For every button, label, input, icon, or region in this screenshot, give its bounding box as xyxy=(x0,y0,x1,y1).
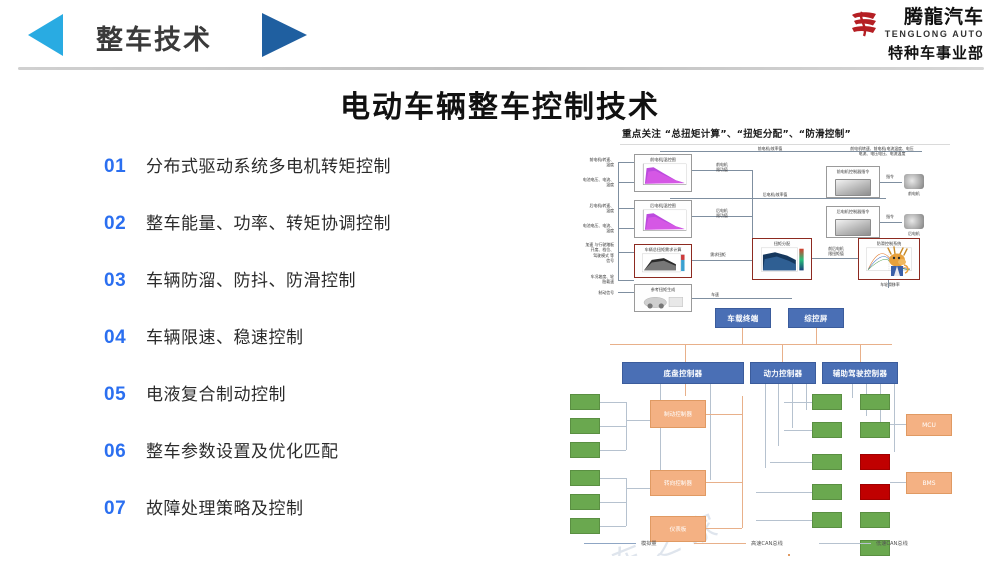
diagram-block-label: 前电机J温控图 xyxy=(650,157,676,162)
signal-link xyxy=(600,402,626,403)
signal-link xyxy=(784,430,812,431)
diagram-block-label: 扭矩分配 xyxy=(774,241,790,246)
diagram-input-label: 后电机J转速、 温度 xyxy=(562,203,614,214)
node-steering-controller[interactable]: 转向控制器 xyxy=(650,470,706,496)
high-speed-can-bus xyxy=(610,344,892,345)
diagram-edge-label: 前后电机 限扭矩值 xyxy=(814,246,858,257)
bus-link xyxy=(742,328,743,344)
list-item-number: 04 xyxy=(104,327,146,349)
diagram-block-label: 前电机控制器指令 xyxy=(837,169,870,174)
controller-hardware-image xyxy=(835,179,871,196)
bus-link xyxy=(685,344,686,362)
sensor-node[interactable] xyxy=(570,494,600,510)
diagram-edge-label: 车轮滑移率 xyxy=(860,282,920,287)
diagram-edge-label: 后电机J效率值 xyxy=(730,192,820,197)
fault-node[interactable] xyxy=(860,484,890,500)
triangle-left-icon xyxy=(28,14,63,56)
diagram-input-label: 电池电压、电流、 温度 xyxy=(562,177,614,188)
torque-distribution-plot xyxy=(756,247,808,275)
legend-swatch-low-speed-can xyxy=(819,543,871,544)
diagram-block-front-motor-map: 前电机J温控图 xyxy=(634,154,692,192)
diagram-block-label: 后电机控制器指令 xyxy=(837,209,870,214)
bus-link xyxy=(782,344,783,362)
diagram-edge-label: 前电机转速、前电机J电流温度、电压 电流、电压电压、电流温度 xyxy=(822,146,942,157)
node-instrument-panel[interactable]: 仪表板 xyxy=(650,516,706,542)
signal-link xyxy=(894,384,895,452)
brand-name-en: TENGLONG AUTO xyxy=(885,30,984,39)
sensor-node[interactable] xyxy=(812,422,842,438)
diagram-edge-label: 指令 xyxy=(880,174,900,179)
signal-link xyxy=(600,450,626,451)
architecture-diagram: 重点关注 “总扭矩计算”、“扭矩分配”、“防滑控制” 前电机J转速、 温度 电池… xyxy=(560,122,988,556)
diagram-block-rear-motor-map: 后电机J温控图 xyxy=(634,200,692,238)
signal-link xyxy=(765,384,766,468)
signal-link xyxy=(806,384,807,410)
diagram-block-rear-motor-controller: 后电机控制器指令 xyxy=(826,206,880,238)
node-label: 底盘控制器 xyxy=(664,368,703,379)
diagram-input-label: 前电机J转速、 温度 xyxy=(562,157,614,168)
signal-link xyxy=(784,402,812,403)
diagram-input-label: 电池电压、电流、 温度 xyxy=(562,223,614,234)
signal-link xyxy=(778,384,779,446)
diagram-connector xyxy=(692,260,730,261)
sensor-node[interactable] xyxy=(570,442,600,458)
brand-department: 特种车事业部 xyxy=(849,46,984,61)
diagram-connector xyxy=(618,292,634,293)
diagram-connector xyxy=(692,298,792,299)
list-item-number: 05 xyxy=(104,384,146,406)
list-item[interactable]: 01 分布式驱动系统多电机转矩控制 xyxy=(104,152,504,209)
signal-link xyxy=(660,384,661,480)
diagram-connector xyxy=(880,182,902,183)
bus-link xyxy=(816,328,817,344)
diagram-input-label: 车况坡度、轮 胎载速 xyxy=(562,274,614,285)
diagram-edge-label: 车速 xyxy=(700,292,730,297)
motor-label: 后电机 xyxy=(900,231,928,236)
diagram-block-torque-distribution: 扭矩分配 xyxy=(752,238,812,280)
signal-link xyxy=(600,478,626,479)
diagram-input-label: 制动信号 xyxy=(562,290,614,295)
diagram-connector xyxy=(618,162,619,280)
sensor-node[interactable] xyxy=(570,518,600,534)
node-powertrain-controller[interactable]: 动力控制器 xyxy=(750,362,816,384)
signal-link xyxy=(626,478,627,526)
bus-link xyxy=(860,344,861,362)
list-item-label: 分布式驱动系统多电机转矩控制 xyxy=(146,152,391,177)
tenglong-s-mark-icon xyxy=(849,10,879,38)
diagram-connector xyxy=(730,260,752,261)
legend-swatch-high-speed-can xyxy=(694,543,746,544)
sensor-node[interactable] xyxy=(860,512,890,528)
diagram-block-total-torque-demand: 车辆总扭矩需求计算 xyxy=(634,244,692,278)
list-item-label: 整车参数设置及优化匹配 xyxy=(146,437,339,462)
controller-hardware-image xyxy=(835,219,871,236)
efficiency-map-plot xyxy=(638,163,688,189)
diagram-block-label: 后电机J温控图 xyxy=(650,203,676,208)
diagram-connector xyxy=(618,252,634,253)
legend-entry: 模拟量 xyxy=(584,540,657,547)
signal-link xyxy=(600,426,626,427)
surface-plot xyxy=(638,253,688,275)
diagram-connector xyxy=(618,228,634,229)
sensor-node[interactable] xyxy=(570,470,600,486)
diagram-connector xyxy=(670,198,886,199)
bus-link xyxy=(706,482,742,483)
list-item[interactable]: 02 整车能量、功率、转矩协调控制 xyxy=(104,209,504,266)
sensor-node[interactable] xyxy=(570,394,600,410)
list-item-number: 01 xyxy=(104,156,146,178)
node-brake-controller[interactable]: 制动控制器 xyxy=(650,400,706,428)
list-item[interactable]: 07 故障处理策略及控制 xyxy=(104,494,504,551)
diagram-connector xyxy=(888,280,889,288)
list-item[interactable]: 05 电液复合制动控制 xyxy=(104,380,504,437)
node-label: 辅助驾驶控制器 xyxy=(833,368,888,379)
diagram-connector xyxy=(618,280,634,281)
diagram-connector xyxy=(812,258,858,259)
node-label: 综控屏 xyxy=(804,313,827,324)
node-onboard-terminal[interactable]: 车载终端 xyxy=(715,308,771,328)
efficiency-map-plot xyxy=(638,209,688,235)
signal-link xyxy=(626,420,650,421)
signal-link xyxy=(890,424,906,425)
node-bms[interactable]: BMS xyxy=(906,472,952,494)
brand-logo-row: 腾龍汽车 TENGLONG AUTO xyxy=(849,8,984,39)
node-integrated-display[interactable]: 综控屏 xyxy=(788,308,844,328)
list-item[interactable]: 04 车辆限速、稳速控制 xyxy=(104,323,504,380)
rear-motor-image xyxy=(904,214,924,229)
legend-entry: 高速CAN总线 xyxy=(694,540,783,547)
node-mcu[interactable]: MCU xyxy=(906,414,952,436)
brand-name-cn: 腾龍汽车 xyxy=(885,8,984,27)
sensor-node[interactable] xyxy=(860,394,890,410)
torque-control-schematic: 前电机J转速、 温度 电池电压、电流、 温度 后电机J转速、 温度 电池电压、电… xyxy=(560,146,988,314)
legend-entry: 低速CAN总线 xyxy=(819,540,908,547)
diagram-connector xyxy=(880,222,902,223)
diagram-edge-label: 前电机 限功值 xyxy=(696,162,748,173)
signal-link xyxy=(626,402,627,450)
vehicle-network-architecture: 汽车之家 车载终端 综控屏 xyxy=(560,304,988,556)
header-divider xyxy=(18,67,984,70)
header-title: 整车技术 xyxy=(96,18,212,57)
legend-label: 低速CAN总线 xyxy=(876,540,908,547)
front-motor-image xyxy=(904,174,924,189)
node-label: 仪表板 xyxy=(670,525,687,533)
mascot-deer-icon xyxy=(882,246,912,280)
diagram-block-front-motor-controller: 前电机控制器指令 xyxy=(826,166,880,198)
node-label: MCU xyxy=(922,422,936,429)
node-label: 动力控制器 xyxy=(764,368,803,379)
diagram-block-label: 车辆总扭矩需求计算 xyxy=(645,247,682,252)
bus-link xyxy=(685,384,686,396)
node-label: 转向控制器 xyxy=(664,479,692,487)
bus-link xyxy=(742,396,743,528)
list-item-number: 02 xyxy=(104,213,146,235)
diagram-top-rule xyxy=(620,144,950,145)
signal-link xyxy=(626,488,650,489)
signal-link xyxy=(792,384,793,428)
list-item-label: 整车能量、功率、转矩协调控制 xyxy=(146,209,391,234)
sensor-node[interactable] xyxy=(812,394,842,410)
node-adas-controller[interactable]: 辅助驾驶控制器 xyxy=(822,362,898,384)
list-item-label: 电液复合制动控制 xyxy=(146,380,286,405)
diagram-block-label: 参考扭矩生成 xyxy=(651,287,676,292)
legend-label: 高速CAN总线 xyxy=(751,540,783,547)
node-label: BMS xyxy=(922,480,935,487)
legend-swatch-analog xyxy=(584,543,636,544)
diagram-edge-label: 需求扭矩 xyxy=(696,252,740,257)
list-item[interactable]: 03 车辆防溜、防抖、防滑控制 xyxy=(104,266,504,323)
slide-root: 整车技术 腾龍汽车 TENGLONG AUTO 特种车事业部 电动车辆整车控制技… xyxy=(0,0,1000,563)
diagram-edge-label: 后电机 限功值 xyxy=(696,208,748,219)
diagram-connector xyxy=(618,208,634,209)
signal-link xyxy=(770,462,812,463)
brand-block: 腾龍汽车 TENGLONG AUTO 特种车事业部 xyxy=(849,8,984,61)
node-label: 车载终端 xyxy=(727,313,758,324)
signal-link xyxy=(600,526,626,527)
sensor-node[interactable] xyxy=(812,454,842,470)
list-item-number: 07 xyxy=(104,498,146,520)
node-chassis-controller[interactable]: 底盘控制器 xyxy=(622,362,744,384)
motor-label: 前电机 xyxy=(900,191,928,196)
sensor-node[interactable] xyxy=(812,484,842,500)
list-item-label: 车辆防溜、防抖、防滑控制 xyxy=(146,266,356,291)
signal-link xyxy=(852,384,853,398)
sensor-node[interactable] xyxy=(570,418,600,434)
list-item-number: 03 xyxy=(104,270,146,292)
list-item-number: 06 xyxy=(104,441,146,463)
sensor-node[interactable] xyxy=(812,512,842,528)
bus-link xyxy=(706,414,742,415)
fault-node[interactable] xyxy=(860,454,890,470)
diagram-input-label: 加速 与行驶踏板 开度、档位、 驾驶模式 等 信号 xyxy=(562,242,614,263)
signal-link xyxy=(756,520,812,521)
diagram-legend: 模拟量 高速CAN总线 低速CAN总线 xyxy=(574,540,974,554)
diagram-block-label: 防滑控制系统 xyxy=(877,241,902,246)
list-item-label: 车辆限速、稳速控制 xyxy=(146,323,304,348)
spacer xyxy=(788,554,790,556)
signal-link xyxy=(756,492,812,493)
diagram-connector xyxy=(618,182,634,183)
list-item-label: 故障处理策略及控制 xyxy=(146,494,304,519)
diagram-connector xyxy=(618,162,634,163)
bus-link xyxy=(706,528,742,529)
sensor-node[interactable] xyxy=(860,422,890,438)
page-title: 电动车辆整车控制技术 xyxy=(0,82,1000,126)
signal-link xyxy=(710,384,711,480)
legend-label: 模拟量 xyxy=(641,540,657,547)
topic-list: 01 分布式驱动系统多电机转矩控制 02 整车能量、功率、转矩协调控制 03 车… xyxy=(104,152,504,551)
triangle-right-icon xyxy=(262,13,307,57)
signal-link xyxy=(600,502,626,503)
diagram-edge-label: 指令 xyxy=(880,214,900,219)
diagram-caption: 重点关注 “总扭矩计算”、“扭矩分配”、“防滑控制” xyxy=(622,126,851,140)
node-label: 制动控制器 xyxy=(664,410,692,418)
list-item[interactable]: 06 整车参数设置及优化匹配 xyxy=(104,437,504,494)
signal-link xyxy=(890,482,906,483)
